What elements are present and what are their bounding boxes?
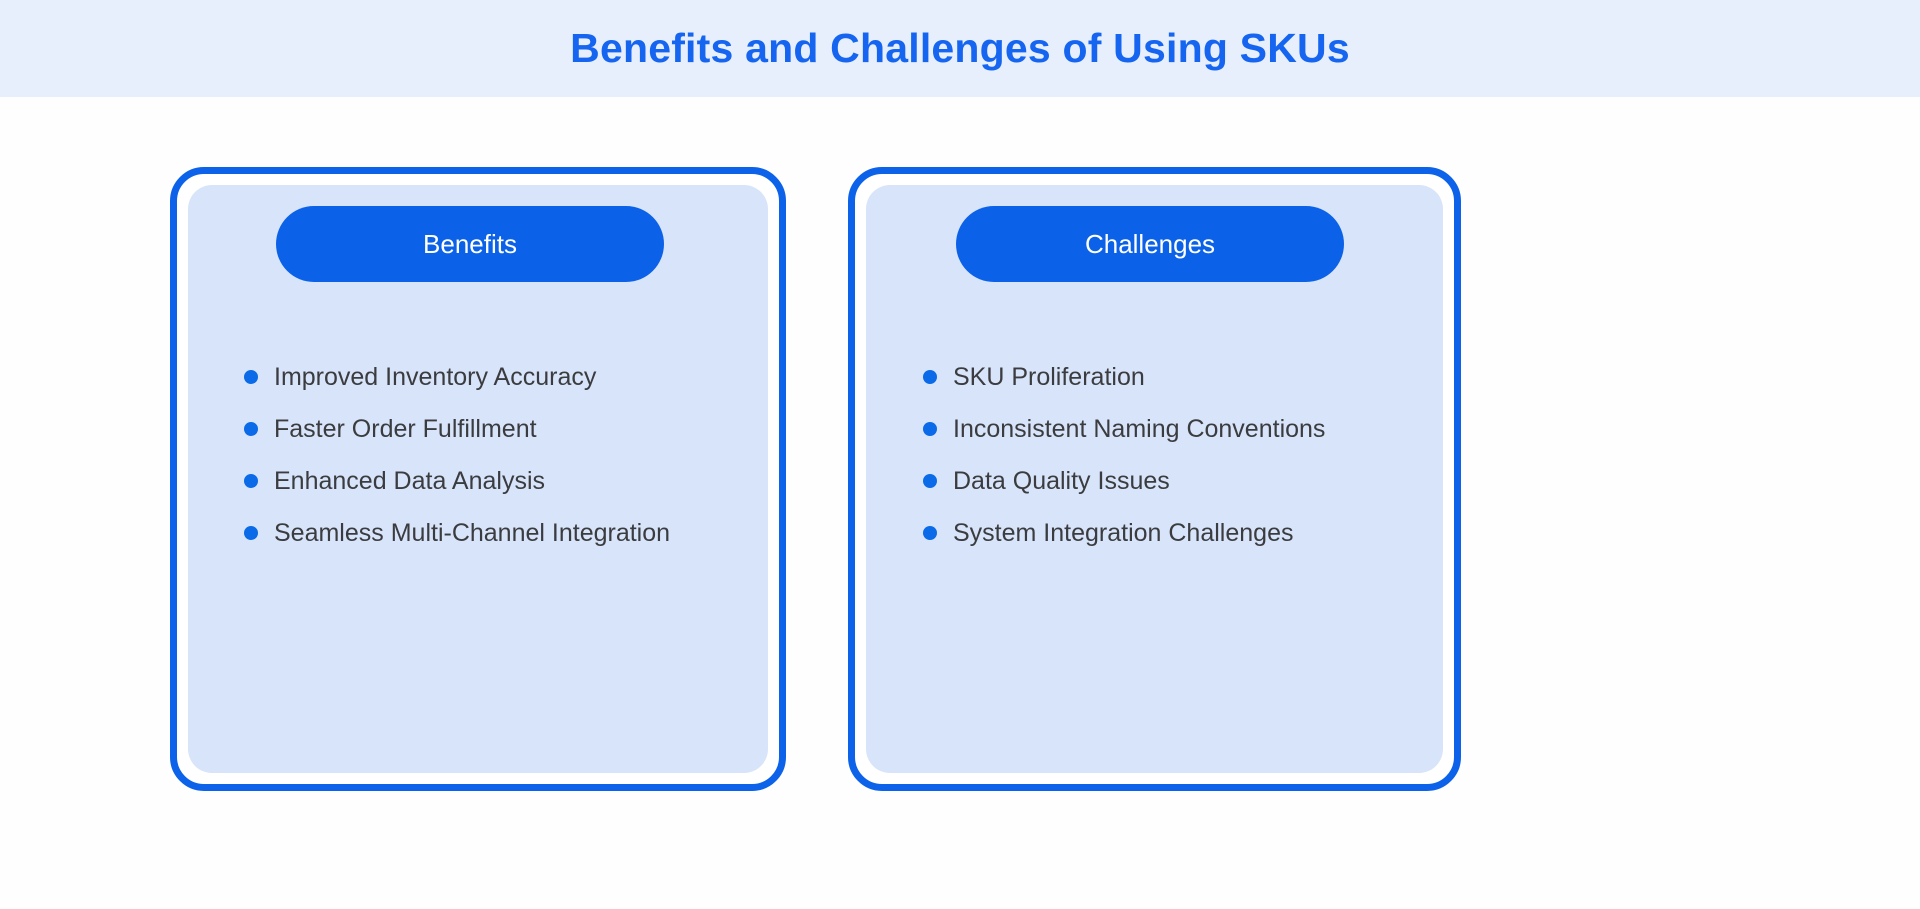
list-item: Improved Inventory Accuracy [244,351,670,403]
list-item: Seamless Multi-Channel Integration [244,507,670,559]
list-item-label: Inconsistent Naming Conventions [953,417,1325,442]
card-challenges-panel: Challenges SKU Proliferation Inconsisten… [866,185,1443,773]
list-item: SKU Proliferation [923,351,1325,403]
cards-row: Benefits Improved Inventory Accuracy Fas… [0,97,1920,909]
list-item-label: SKU Proliferation [953,365,1145,390]
bullet-dot-icon [923,370,937,384]
bullet-dot-icon [244,474,258,488]
list-item-label: Data Quality Issues [953,469,1170,494]
card-benefits-pill: Benefits [276,206,664,282]
bullet-dot-icon [923,422,937,436]
bullet-dot-icon [244,526,258,540]
list-item: Data Quality Issues [923,455,1325,507]
card-benefits: Benefits Improved Inventory Accuracy Fas… [170,167,786,791]
card-challenges: Challenges SKU Proliferation Inconsisten… [848,167,1461,791]
bullet-dot-icon [244,370,258,384]
list-item-label: Faster Order Fulfillment [274,417,537,442]
header-band: Benefits and Challenges of Using SKUs [0,0,1920,97]
card-benefits-panel: Benefits Improved Inventory Accuracy Fas… [188,185,768,773]
list-item: Inconsistent Naming Conventions [923,403,1325,455]
list-item: System Integration Challenges [923,507,1325,559]
list-item-label: Improved Inventory Accuracy [274,365,596,390]
list-item: Enhanced Data Analysis [244,455,670,507]
infographic-page: Benefits and Challenges of Using SKUs Be… [0,0,1920,909]
card-benefits-list: Improved Inventory Accuracy Faster Order… [244,351,670,559]
bullet-dot-icon [923,474,937,488]
list-item-label: System Integration Challenges [953,521,1293,546]
list-item-label: Seamless Multi-Channel Integration [274,521,670,546]
list-item-label: Enhanced Data Analysis [274,469,545,494]
page-title: Benefits and Challenges of Using SKUs [570,28,1350,69]
card-challenges-pill: Challenges [956,206,1344,282]
card-challenges-list: SKU Proliferation Inconsistent Naming Co… [923,351,1325,559]
bullet-dot-icon [923,526,937,540]
list-item: Faster Order Fulfillment [244,403,670,455]
bullet-dot-icon [244,422,258,436]
